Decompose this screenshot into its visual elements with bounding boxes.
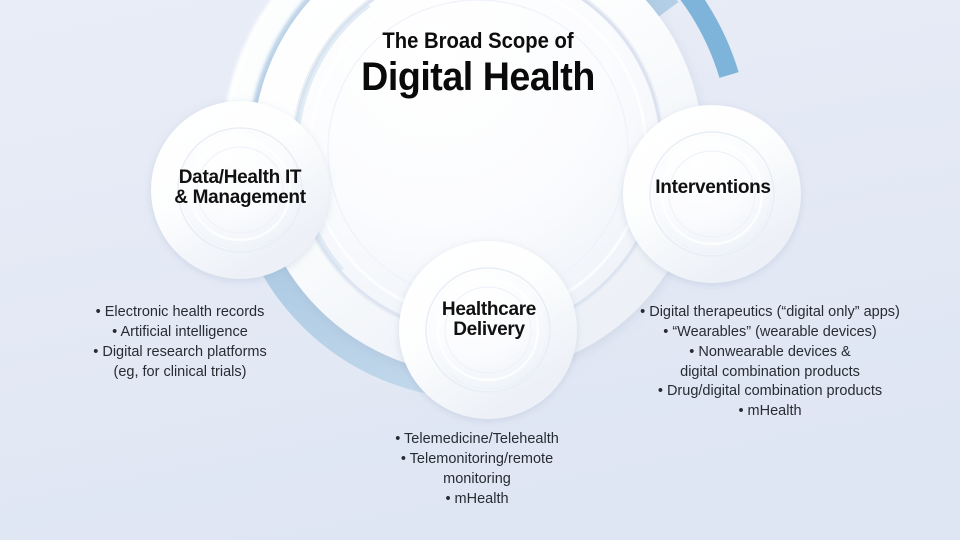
list-item: • Artificial intelligence bbox=[50, 323, 310, 343]
bullet-list-data-health-it: • Electronic health records • Artificial… bbox=[50, 303, 310, 382]
list-item: • Drug/digital combination products bbox=[595, 382, 945, 402]
list-item: • Telemonitoring/remote bbox=[352, 450, 602, 470]
node-label-line-2: & Management bbox=[130, 188, 350, 208]
node-label-line-1: Healthcare bbox=[408, 300, 570, 320]
list-item: • Electronic health records bbox=[50, 303, 310, 323]
list-item: • mHealth bbox=[352, 490, 602, 510]
title-line-2: Digital Health bbox=[337, 56, 619, 98]
list-item: digital combination products bbox=[595, 363, 945, 383]
list-item: • “Wearables” (wearable devices) bbox=[595, 323, 945, 343]
bullet-list-healthcare-delivery: • Telemedicine/Telehealth • Telemonitori… bbox=[352, 430, 602, 509]
page-title: The Broad Scope of Digital Health bbox=[328, 28, 628, 98]
node-label-line-2: Delivery bbox=[408, 320, 570, 340]
list-item: • Telemedicine/Telehealth bbox=[352, 430, 602, 450]
node-label-healthcare-delivery: Healthcare Delivery bbox=[408, 300, 570, 340]
list-item: • Digital research platforms bbox=[50, 343, 310, 363]
bullet-list-interventions: • Digital therapeutics (“digital only” a… bbox=[595, 303, 945, 422]
node-label-interventions: Interventions bbox=[620, 178, 806, 198]
list-item: • Digital therapeutics (“digital only” a… bbox=[595, 303, 945, 323]
list-item: monitoring bbox=[352, 470, 602, 490]
node-label-data-health-it: Data/Health IT & Management bbox=[130, 168, 350, 208]
node-label-line-1: Data/Health IT bbox=[130, 168, 350, 188]
list-item: • Nonwearable devices & bbox=[595, 343, 945, 363]
title-line-1: The Broad Scope of bbox=[340, 28, 616, 54]
list-item: • mHealth bbox=[595, 402, 945, 422]
infographic-canvas: The Broad Scope of Digital Health Data/H… bbox=[0, 0, 960, 540]
list-item: (eg, for clinical trials) bbox=[50, 363, 310, 383]
node-label-line-1: Interventions bbox=[620, 178, 806, 198]
